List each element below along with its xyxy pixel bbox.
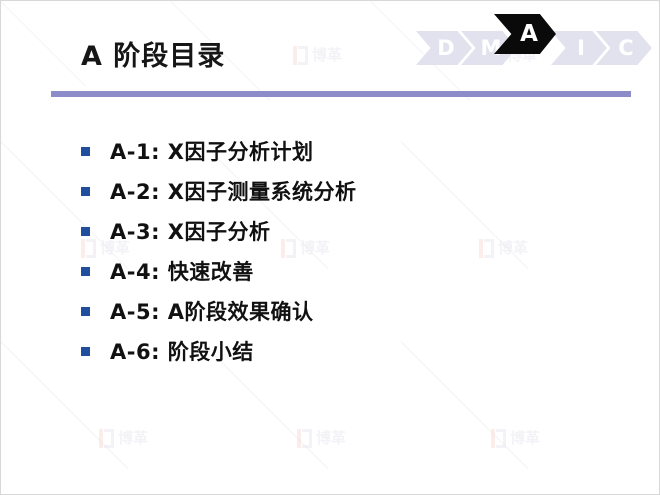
watermark-text: 博革 [118, 429, 148, 448]
bullet-square-icon [81, 187, 90, 196]
watermark-text: 博革 [498, 239, 528, 258]
brand-logo-icon [293, 46, 308, 65]
phase-label-d: D [437, 36, 454, 60]
watermark-logo: 博革 [297, 429, 346, 448]
brand-logo-icon [479, 239, 494, 258]
phase-chevron-d: D [416, 31, 472, 65]
dmaic-banner: D M I C A [416, 31, 646, 65]
guide-line [0, 1, 86, 87]
watermark-logo: 博革 [99, 429, 148, 448]
bullet-square-icon [81, 347, 90, 356]
brand-logo-icon [491, 429, 506, 448]
watermark-text: 博革 [510, 429, 540, 448]
agenda-list: A-1: X因子分析计划 A-2: X因子测量系统分析 A-3: X因子分析 A… [81, 131, 356, 371]
phase-label-m: M [481, 36, 502, 60]
phase-label-a: A [520, 21, 538, 47]
agenda-item-label: A-4: 快速改善 [110, 256, 254, 286]
agenda-item-a-3[interactable]: A-3: X因子分析 [81, 211, 356, 251]
guide-line [400, 141, 528, 269]
bullet-square-icon [81, 147, 90, 156]
agenda-item-label: A-2: X因子测量系统分析 [110, 176, 356, 206]
watermark-text: 博革 [312, 46, 342, 65]
brand-logo-icon [99, 429, 114, 448]
agenda-item-a-2[interactable]: A-2: X因子测量系统分析 [81, 171, 356, 211]
bullet-square-icon [81, 307, 90, 316]
bullet-square-icon [81, 227, 90, 236]
slide-root: 博革博革博革博革博革博革博革博革 D M I C A A 阶段目录 A-1: X… [0, 0, 660, 495]
watermark-text: 博革 [316, 429, 346, 448]
page-title: A 阶段目录 [81, 34, 225, 73]
agenda-item-a-5[interactable]: A-5: A阶段效果确认 [81, 291, 356, 331]
watermark-logo: 博革 [491, 429, 540, 448]
agenda-item-a-1[interactable]: A-1: X因子分析计划 [81, 131, 356, 171]
agenda-item-label: A-3: X因子分析 [110, 216, 270, 246]
phase-chevron-i: I [551, 31, 607, 65]
phase-label-c: C [618, 36, 633, 60]
header-divider [51, 91, 631, 97]
brand-logo-icon [297, 429, 312, 448]
agenda-item-label: A-1: X因子分析计划 [110, 136, 313, 166]
agenda-item-label: A-5: A阶段效果确认 [110, 296, 314, 326]
agenda-item-a-4[interactable]: A-4: 快速改善 [81, 251, 356, 291]
guide-line [400, 341, 528, 469]
phase-label-i: I [577, 36, 585, 60]
watermark-logo: 博革 [293, 46, 342, 65]
watermark-logo: 博革 [479, 239, 528, 258]
agenda-item-label: A-6: 阶段小结 [110, 336, 254, 366]
agenda-item-a-6[interactable]: A-6: 阶段小结 [81, 331, 356, 371]
bullet-square-icon [81, 267, 90, 276]
